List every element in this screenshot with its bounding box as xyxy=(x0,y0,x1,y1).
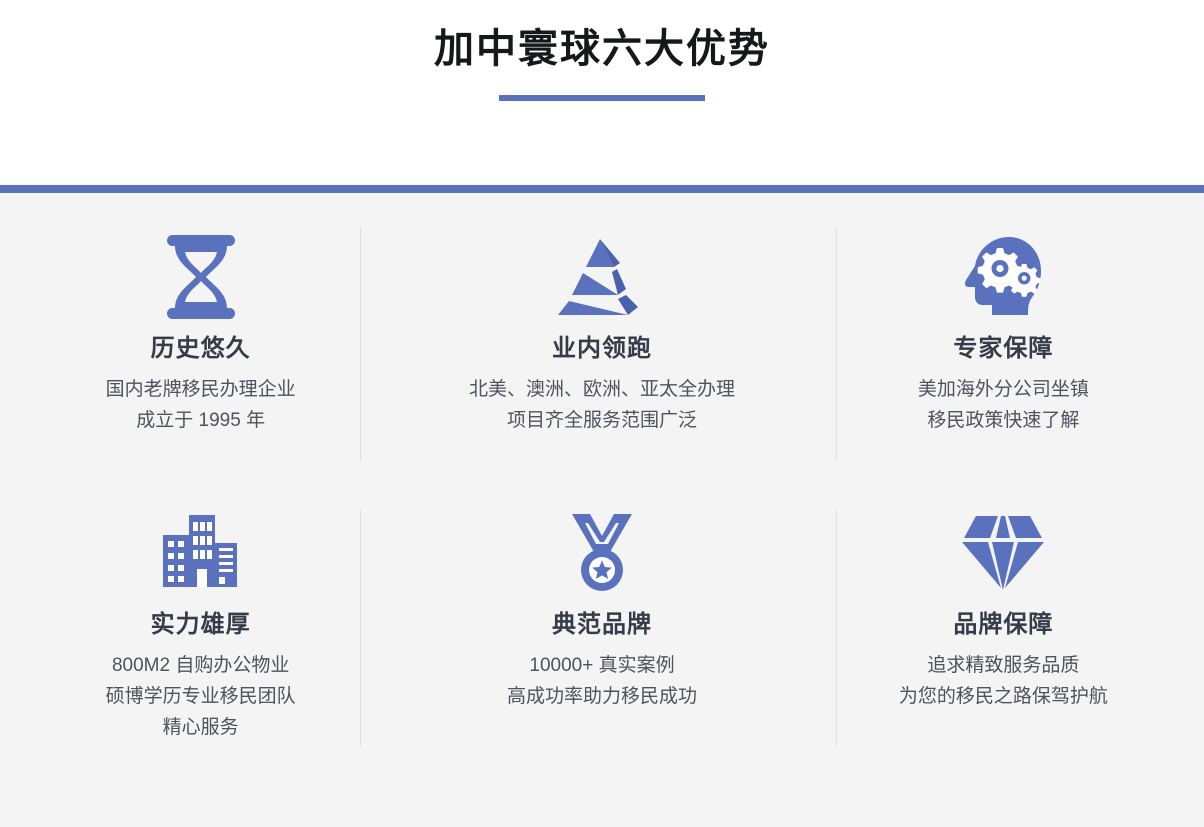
title-underline xyxy=(499,95,705,101)
card-description: 800M2 自购办公物业 硕博学历专业移民团队 精心服务 xyxy=(106,651,296,743)
card-title: 典范品牌 xyxy=(552,609,652,640)
advantages-grid: 历史悠久 国内老牌移民办理企业 成立于 1995 年 xyxy=(0,193,1204,753)
card-description: 美加海外分公司坐镇 移民政策快速了解 xyxy=(918,375,1089,437)
advantage-card-leading: 业内领跑 北美、澳洲、欧洲、亚太全办理 项目齐全服务范围广泛 xyxy=(401,193,802,473)
card-title: 历史悠久 xyxy=(151,333,251,364)
card-title: 专家保障 xyxy=(953,333,1053,364)
card-line: 移民政策快速了解 xyxy=(918,406,1089,437)
card-description: 追求精致服务品质 为您的移民之路保驾护航 xyxy=(899,651,1108,713)
advantage-card-experts: 专家保障 美加海外分公司坐镇 移民政策快速了解 xyxy=(803,193,1204,473)
buildings-icon xyxy=(159,507,243,599)
card-line: 成立于 1995 年 xyxy=(106,406,296,437)
card-line: 北美、澳洲、欧洲、亚太全办理 xyxy=(469,375,735,406)
card-description: 北美、澳洲、欧洲、亚太全办理 项目齐全服务范围广泛 xyxy=(469,375,735,437)
section-divider-bar xyxy=(0,185,1204,193)
head-gears-icon xyxy=(961,231,1045,323)
card-line: 项目齐全服务范围广泛 xyxy=(469,406,735,437)
advantage-card-brand-model: 典范品牌 10000+ 真实案例 高成功率助力移民成功 xyxy=(401,473,802,753)
card-line: 国内老牌移民办理企业 xyxy=(106,375,296,406)
card-line: 高成功率助力移民成功 xyxy=(507,682,697,713)
card-line: 800M2 自购办公物业 xyxy=(106,651,296,682)
page-header: 加中寰球六大优势 xyxy=(0,0,1204,185)
card-line: 为您的移民之路保驾护航 xyxy=(899,682,1108,713)
hourglass-icon xyxy=(165,231,237,323)
advantages-page: 加中寰球六大优势 历史悠久 国内老牌移民办理企业 成 xyxy=(0,0,1204,827)
page-title: 加中寰球六大优势 xyxy=(0,25,1204,73)
card-line: 精心服务 xyxy=(106,713,296,744)
advantage-card-strength: 实力雄厚 800M2 自购办公物业 硕博学历专业移民团队 精心服务 xyxy=(0,473,401,753)
diamond-icon xyxy=(960,507,1046,599)
card-line: 10000+ 真实案例 xyxy=(507,651,697,682)
card-description: 国内老牌移民办理企业 成立于 1995 年 xyxy=(106,375,296,437)
card-line: 追求精致服务品质 xyxy=(899,651,1108,682)
card-line: 美加海外分公司坐镇 xyxy=(918,375,1089,406)
card-title: 实力雄厚 xyxy=(151,609,251,640)
card-line: 硕博学历专业移民团队 xyxy=(106,682,296,713)
card-title: 业内领跑 xyxy=(552,333,652,364)
pyramid-icon xyxy=(556,231,648,323)
card-description: 10000+ 真实案例 高成功率助力移民成功 xyxy=(507,651,697,713)
medal-icon xyxy=(566,507,638,599)
advantage-card-brand-guarantee: 品牌保障 追求精致服务品质 为您的移民之路保驾护航 xyxy=(803,473,1204,753)
advantage-card-history: 历史悠久 国内老牌移民办理企业 成立于 1995 年 xyxy=(0,193,401,473)
card-title: 品牌保障 xyxy=(953,609,1053,640)
advantages-section: 历史悠久 国内老牌移民办理企业 成立于 1995 年 xyxy=(0,193,1204,827)
